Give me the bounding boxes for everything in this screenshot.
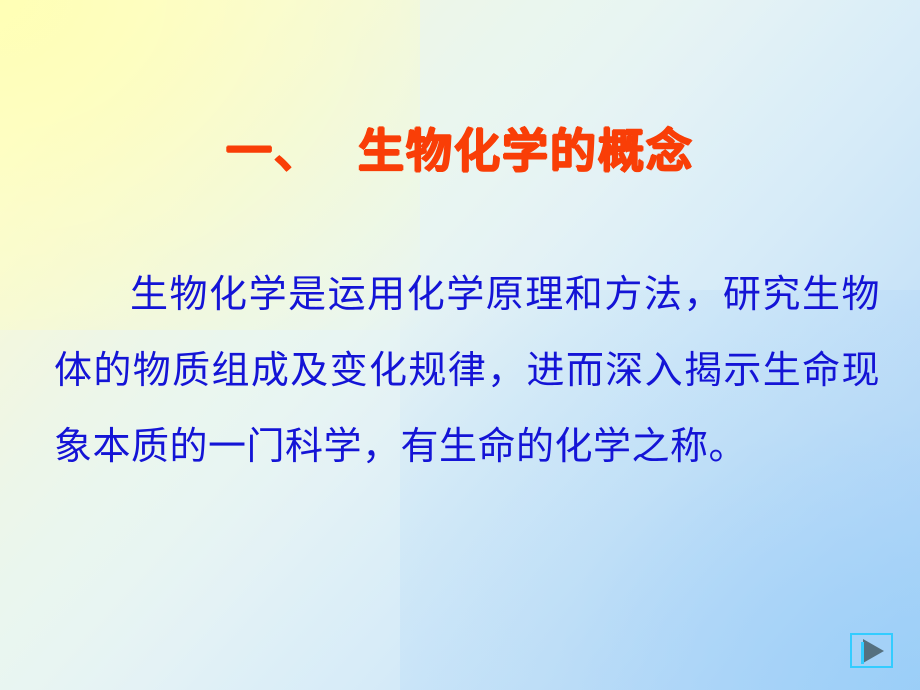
page-title: 一、 生物化学的概念 (0, 123, 920, 179)
next-slide-button[interactable] (850, 633, 893, 668)
play-triangle-icon (863, 639, 884, 663)
body-paragraph: 生物化学是运用化学原理和方法，研究生物体的物质组成及变化规律，进而深入揭示生命现… (54, 256, 880, 484)
presentation-slide: 一、 生物化学的概念 生物化学是运用化学原理和方法，研究生物体的物质组成及变化规… (0, 0, 920, 690)
slide-content: 一、 生物化学的概念 生物化学是运用化学原理和方法，研究生物体的物质组成及变化规… (0, 0, 920, 690)
play-bar-decoration (861, 642, 864, 664)
